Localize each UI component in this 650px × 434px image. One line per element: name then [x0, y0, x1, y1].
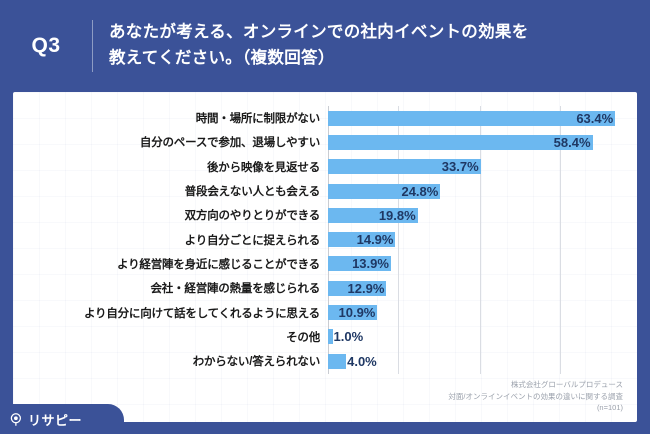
- footnote-line2: 対面/オンラインイベントの効果の違いに関する調査: [448, 391, 623, 403]
- chart-value-label: 33.7%: [442, 160, 479, 173]
- chart-category-label: より経営陣を身近に感じることができる: [13, 256, 328, 272]
- chart-value-label: 24.8%: [401, 185, 438, 198]
- chart-bar-track: 14.9%: [328, 227, 637, 251]
- chart-row: その他1.0%: [13, 325, 637, 349]
- chart-row: 普段会えない人とも会える24.8%: [13, 179, 637, 203]
- chart-row: より自分に向けて話をしてくれるように思える10.9%: [13, 300, 637, 324]
- chart-value-label: 10.9%: [339, 306, 376, 319]
- chart-bar: 58.4%: [328, 135, 593, 150]
- chart-category-label: 会社・経営陣の熱量を感じられる: [13, 280, 328, 296]
- chart-row: 自分のペースで参加、退場しやすい58.4%: [13, 130, 637, 154]
- chart-value-label: 19.8%: [379, 209, 416, 222]
- chart-value-label: 12.9%: [348, 282, 385, 295]
- slide-header: Q3 あなたが考える、オンラインでの社内イベントの効果を 教えてください。（複数…: [0, 0, 650, 92]
- chart-bar-track: 24.8%: [328, 179, 637, 203]
- question-title-line2: 教えてください。（複数回答）: [109, 46, 529, 72]
- chart-value-label: 4.0%: [346, 355, 377, 368]
- chart-bar: 13.9%: [328, 256, 391, 271]
- footnote: 株式会社グローバルプロデュース 対面/オンラインイベントの効果の違いに関する調査…: [448, 379, 623, 414]
- chart-bar-track: 63.4%: [328, 106, 637, 130]
- chart-category-label: わからない/答えられない: [13, 353, 328, 369]
- brand-logo: リサピー: [0, 404, 124, 434]
- chart-category-label: 双方向のやりとりができる: [13, 207, 328, 223]
- header-divider: [92, 20, 93, 72]
- chart-bar-track: 58.4%: [328, 130, 637, 154]
- chart-bar-track: 19.8%: [328, 203, 637, 227]
- footnote-line1: 株式会社グローバルプロデュース: [448, 379, 623, 391]
- chart-bar-track: 13.9%: [328, 252, 637, 276]
- chart-bar: 19.8%: [328, 208, 418, 223]
- chart-value-label: 63.4%: [576, 112, 613, 125]
- chart-category-label: その他: [13, 329, 328, 345]
- chart-category-label: 後から映像を見返せる: [13, 159, 328, 175]
- chart-row: 双方向のやりとりができる19.8%: [13, 203, 637, 227]
- chart-row: より経営陣を身近に感じることができる13.9%: [13, 252, 637, 276]
- chart-value-label: 1.0%: [333, 330, 364, 343]
- question-number: Q3: [0, 34, 92, 58]
- chart-card: 時間・場所に制限がない63.4%自分のペースで参加、退場しやすい58.4%後から…: [13, 92, 637, 422]
- brand-logo-text: リサピー: [28, 410, 82, 429]
- question-title-line1: あなたが考える、オンラインでの社内イベントの効果を: [109, 23, 529, 41]
- chart-value-label: 13.9%: [352, 257, 389, 270]
- search-pin-icon: [9, 412, 24, 427]
- chart-category-label: 時間・場所に制限がない: [13, 110, 328, 126]
- chart-bar: 63.4%: [328, 111, 615, 126]
- chart-bar: 14.9%: [328, 232, 395, 247]
- chart-bar-track: 4.0%: [328, 349, 637, 373]
- chart-bar: 10.9%: [328, 305, 377, 320]
- chart-value-label: 14.9%: [357, 233, 394, 246]
- chart-row: わからない/答えられない4.0%: [13, 349, 637, 373]
- chart-rows: 時間・場所に制限がない63.4%自分のペースで参加、退場しやすい58.4%後から…: [13, 106, 637, 373]
- chart-bar: 1.0%: [328, 329, 333, 344]
- question-title: あなたが考える、オンラインでの社内イベントの効果を 教えてください。（複数回答）: [109, 20, 553, 71]
- chart-bar: 33.7%: [328, 159, 481, 174]
- chart-value-label: 58.4%: [554, 136, 591, 149]
- chart-bar-track: 12.9%: [328, 276, 637, 300]
- chart-bar: 24.8%: [328, 184, 440, 199]
- chart-category-label: より自分ごとに捉えられる: [13, 232, 328, 248]
- chart-category-label: 自分のペースで参加、退場しやすい: [13, 134, 328, 150]
- chart-bar: 4.0%: [328, 354, 346, 369]
- chart-bar-track: 10.9%: [328, 300, 637, 324]
- chart-bar-track: 33.7%: [328, 155, 637, 179]
- chart-row: 会社・経営陣の熱量を感じられる12.9%: [13, 276, 637, 300]
- footnote-line3: (n=101): [448, 402, 623, 414]
- slide-root: Q3 あなたが考える、オンラインでの社内イベントの効果を 教えてください。（複数…: [0, 0, 650, 434]
- chart-category-label: より自分に向けて話をしてくれるように思える: [13, 305, 328, 321]
- chart-bar-track: 1.0%: [328, 325, 637, 349]
- chart-row: より自分ごとに捉えられる14.9%: [13, 227, 637, 251]
- bar-chart: 時間・場所に制限がない63.4%自分のペースで参加、退場しやすい58.4%後から…: [13, 106, 637, 398]
- chart-row: 後から映像を見返せる33.7%: [13, 155, 637, 179]
- chart-bar: 12.9%: [328, 281, 386, 296]
- chart-category-label: 普段会えない人とも会える: [13, 183, 328, 199]
- chart-row: 時間・場所に制限がない63.4%: [13, 106, 637, 130]
